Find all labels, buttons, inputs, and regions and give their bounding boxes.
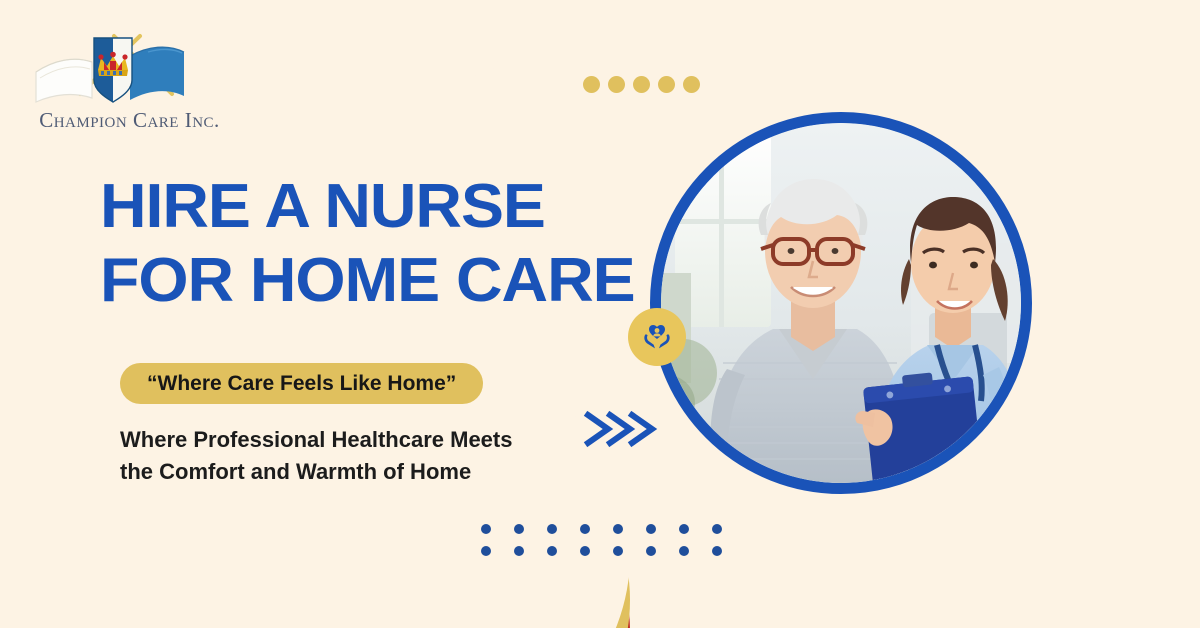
headline: HIRE A NURSE FOR HOME CARE	[100, 170, 614, 318]
headline-line-2: FOR HOME CARE	[100, 244, 635, 318]
brand-logo[interactable]: Champion Care Inc.	[22, 22, 237, 137]
blue-dot	[613, 546, 623, 556]
blue-dot	[646, 524, 656, 534]
gold-dot	[658, 76, 675, 93]
gold-dot	[608, 76, 625, 93]
chevron-right-triple-icon	[582, 405, 662, 458]
brand-wordmark: Champion Care Inc.	[22, 108, 237, 133]
gold-dot	[633, 76, 650, 93]
blue-dot	[547, 524, 557, 534]
blue-dot	[679, 546, 689, 556]
tagline-text: “Where Care Feels Like Home”	[147, 372, 456, 396]
nurse-and-senior-photo-icon	[661, 123, 1021, 483]
blue-dot	[481, 546, 491, 556]
subtitle-line-2: the Comfort and Warmth of Home	[120, 456, 512, 488]
gold-dot	[683, 76, 700, 93]
blue-dot	[646, 546, 656, 556]
hero-banner: Champion Care Inc. HIRE A NURSE FOR HOME…	[0, 0, 1200, 628]
gold-dot	[583, 76, 600, 93]
subtitle: Where Professional Healthcare Meets the …	[120, 424, 512, 488]
subtitle-line-1: Where Professional Healthcare Meets	[120, 424, 512, 456]
blue-dot	[547, 546, 557, 556]
blue-dot	[712, 524, 722, 534]
hands-holding-heart-icon	[628, 308, 686, 366]
blue-dot	[481, 524, 491, 534]
dot-row-icon	[583, 76, 700, 93]
headline-line-1: HIRE A NURSE	[100, 170, 635, 244]
blue-dot	[712, 546, 722, 556]
shield-crown-book-logo-icon	[22, 22, 237, 112]
blue-dot	[679, 524, 689, 534]
dot-grid-icon	[481, 524, 745, 568]
blue-dot	[514, 546, 524, 556]
hero-photo	[650, 112, 1032, 494]
tagline-pill: “Where Care Feels Like Home”	[120, 363, 483, 404]
blue-dot	[613, 524, 623, 534]
blue-dot	[580, 546, 590, 556]
blue-dot	[580, 524, 590, 534]
blue-dot	[514, 524, 524, 534]
